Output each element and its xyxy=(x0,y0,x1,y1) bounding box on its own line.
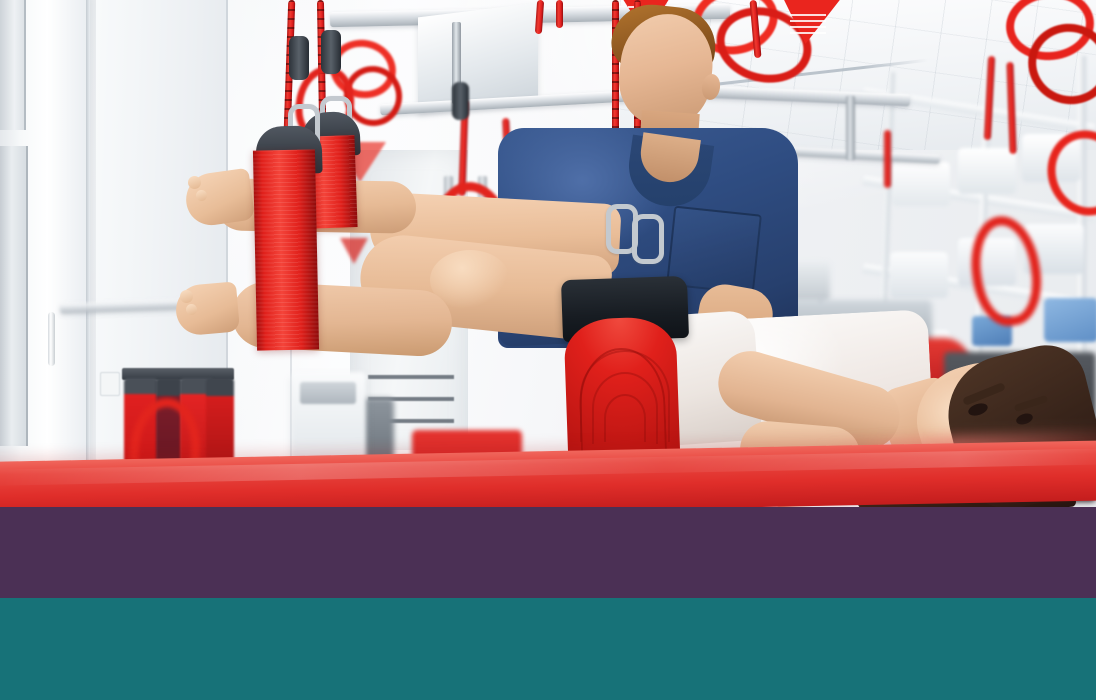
equipment-cart-panel xyxy=(300,382,356,404)
carabiner-4 xyxy=(632,214,664,264)
teal-headline-band: SHORT WORKSHOP xyxy=(0,598,1096,700)
door-edge-shadow xyxy=(86,0,90,500)
sling-contour-3 xyxy=(604,394,646,442)
poster-canvas: SPORTS SESSION PRESCRIPTIONS FOR PATIENT… xyxy=(0,0,1096,700)
door-handle xyxy=(48,312,55,366)
strap-grip-2 xyxy=(321,30,341,74)
red-cord-12 xyxy=(884,130,891,188)
hero-photo xyxy=(0,0,1096,510)
purple-title-band: SPORTS SESSION PRESCRIPTIONS FOR PATIENT… xyxy=(0,507,1096,598)
patient-toe-2 xyxy=(196,190,207,201)
strap-grip-5 xyxy=(452,82,469,120)
light-switch xyxy=(100,372,120,396)
rail-post-3 xyxy=(846,96,855,160)
door-glass-lower xyxy=(0,146,28,446)
patient-toe-4 xyxy=(186,304,197,315)
patient-toe-3 xyxy=(180,290,193,303)
patient-toe-1 xyxy=(188,176,201,189)
door-glass-upper xyxy=(0,0,26,130)
strap-grip-1 xyxy=(289,36,309,80)
red-warning-tag-2-text xyxy=(790,14,826,36)
red-cord-6 xyxy=(556,0,563,28)
red-suspension-strap-1 xyxy=(253,149,319,350)
